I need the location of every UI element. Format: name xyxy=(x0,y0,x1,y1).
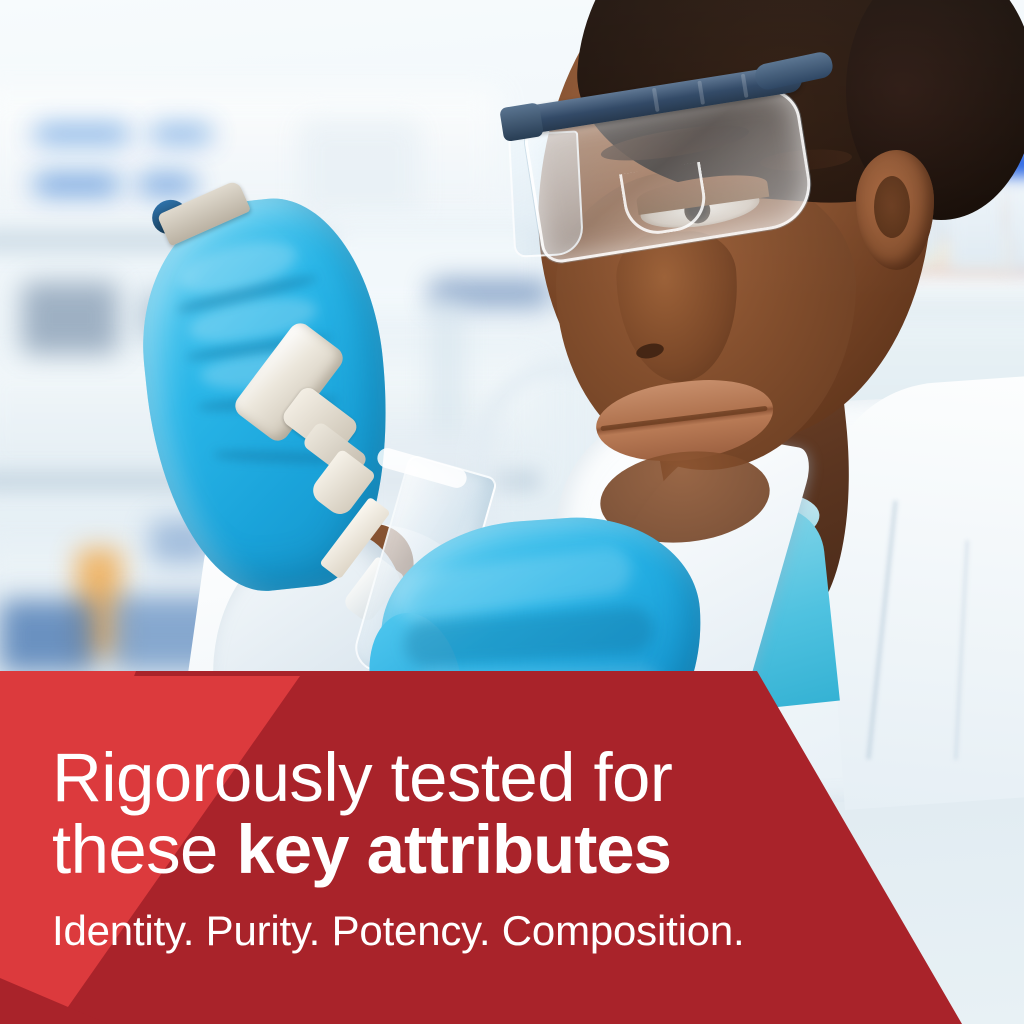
banner-image: Rigorously tested for these key attribut… xyxy=(0,0,1024,1024)
headline-line-2-light: these xyxy=(52,811,236,888)
headline-line-2-bold: key attributes xyxy=(236,811,671,888)
glove-finger-highlight xyxy=(412,666,663,714)
banner-subline: Identity. Purity. Potency. Composition. xyxy=(52,908,912,954)
goggle-brow-segment xyxy=(652,88,660,112)
goggle-hinge xyxy=(499,102,544,142)
headline-line-1: Rigorously tested for xyxy=(52,742,912,814)
goggle-brow-segment xyxy=(697,81,705,105)
goggle-brow-segment xyxy=(741,74,749,98)
headline-line-2: these key attributes xyxy=(52,814,912,886)
banner-text-block: Rigorously tested for these key attribut… xyxy=(52,742,912,954)
scientist xyxy=(0,0,1024,760)
